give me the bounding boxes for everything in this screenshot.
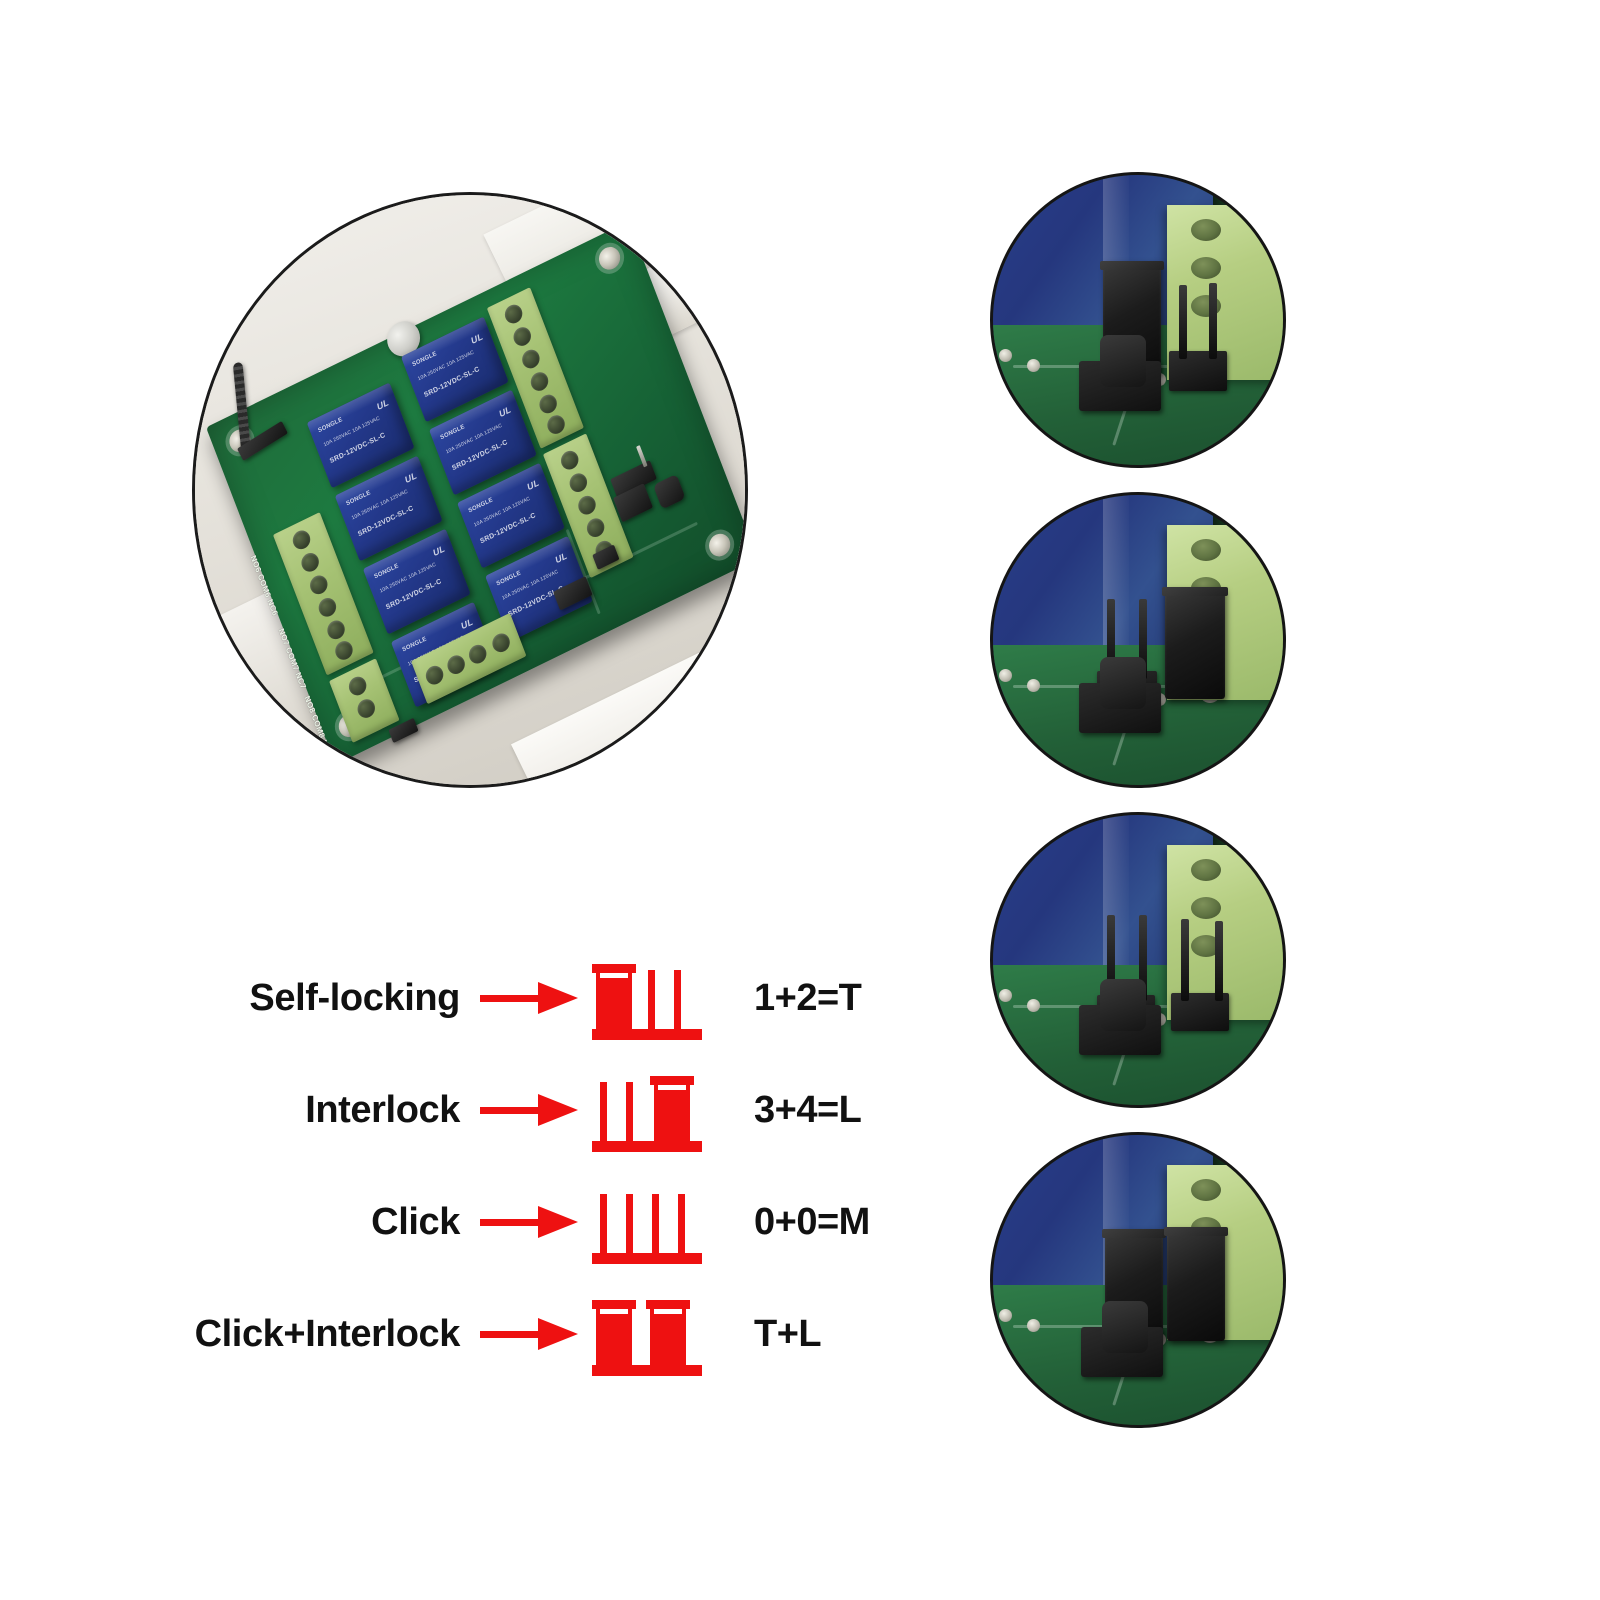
main-product-photo: SONGLE 10A 250VAC 10A 125VAC SRD-12VDC-S…	[192, 192, 748, 788]
detail-photo-jumper-on-pins-1-2	[990, 172, 1286, 468]
right-arrow-icon	[474, 978, 592, 1018]
detail-photo-jumper-on-pins-3-4	[990, 492, 1286, 788]
legend-row: Interlock 3+4=L	[130, 1062, 890, 1158]
header-pin	[1215, 921, 1223, 1001]
right-arrow-icon	[474, 1314, 592, 1354]
legend-label-click-interlock: Click+Interlock	[130, 1315, 474, 1353]
jumper-glyph-none	[592, 1180, 702, 1264]
jumper-cap	[1167, 1227, 1225, 1341]
jumper-mode-legend: Self-locking 1+2=T Interlock 3+4=L Click	[130, 950, 890, 1380]
push-button	[1079, 361, 1161, 411]
header-pin	[1179, 285, 1187, 359]
header-base	[1169, 351, 1227, 391]
mount-hole	[706, 530, 734, 560]
header-pin	[1181, 919, 1189, 1001]
push-button	[1079, 683, 1161, 733]
legend-row: Click 0+0=M	[130, 1174, 890, 1270]
legend-label-click: Click	[130, 1203, 474, 1241]
jumper-glyph-right-pair	[592, 1068, 702, 1152]
legend-code-interlock: 3+4=L	[754, 1091, 861, 1129]
mount-hole	[596, 243, 624, 273]
header-pin	[636, 445, 648, 467]
detail-photo-jumper-on-both-pairs	[990, 1132, 1286, 1428]
push-button	[1081, 1327, 1163, 1377]
header-pin	[1209, 283, 1217, 359]
push-button	[1079, 1005, 1161, 1055]
legend-row: Click+Interlock T+L	[130, 1286, 890, 1382]
right-arrow-icon	[474, 1090, 592, 1130]
legend-code-click-interlock: T+L	[754, 1315, 821, 1353]
right-arrow-icon	[474, 1202, 592, 1242]
legend-code-click: 0+0=M	[754, 1203, 870, 1241]
legend-row: Self-locking 1+2=T	[130, 950, 890, 1046]
jumper-glyph-both-pairs	[592, 1292, 702, 1376]
legend-code-self-locking: 1+2=T	[754, 979, 861, 1017]
detail-photo-jumper-removed	[990, 812, 1286, 1108]
jumper-glyph-left-pair	[592, 956, 702, 1040]
jumper-cap	[1165, 587, 1225, 699]
legend-label-self-locking: Self-locking	[130, 979, 474, 1017]
legend-label-interlock: Interlock	[130, 1091, 474, 1129]
push-button	[653, 474, 686, 510]
